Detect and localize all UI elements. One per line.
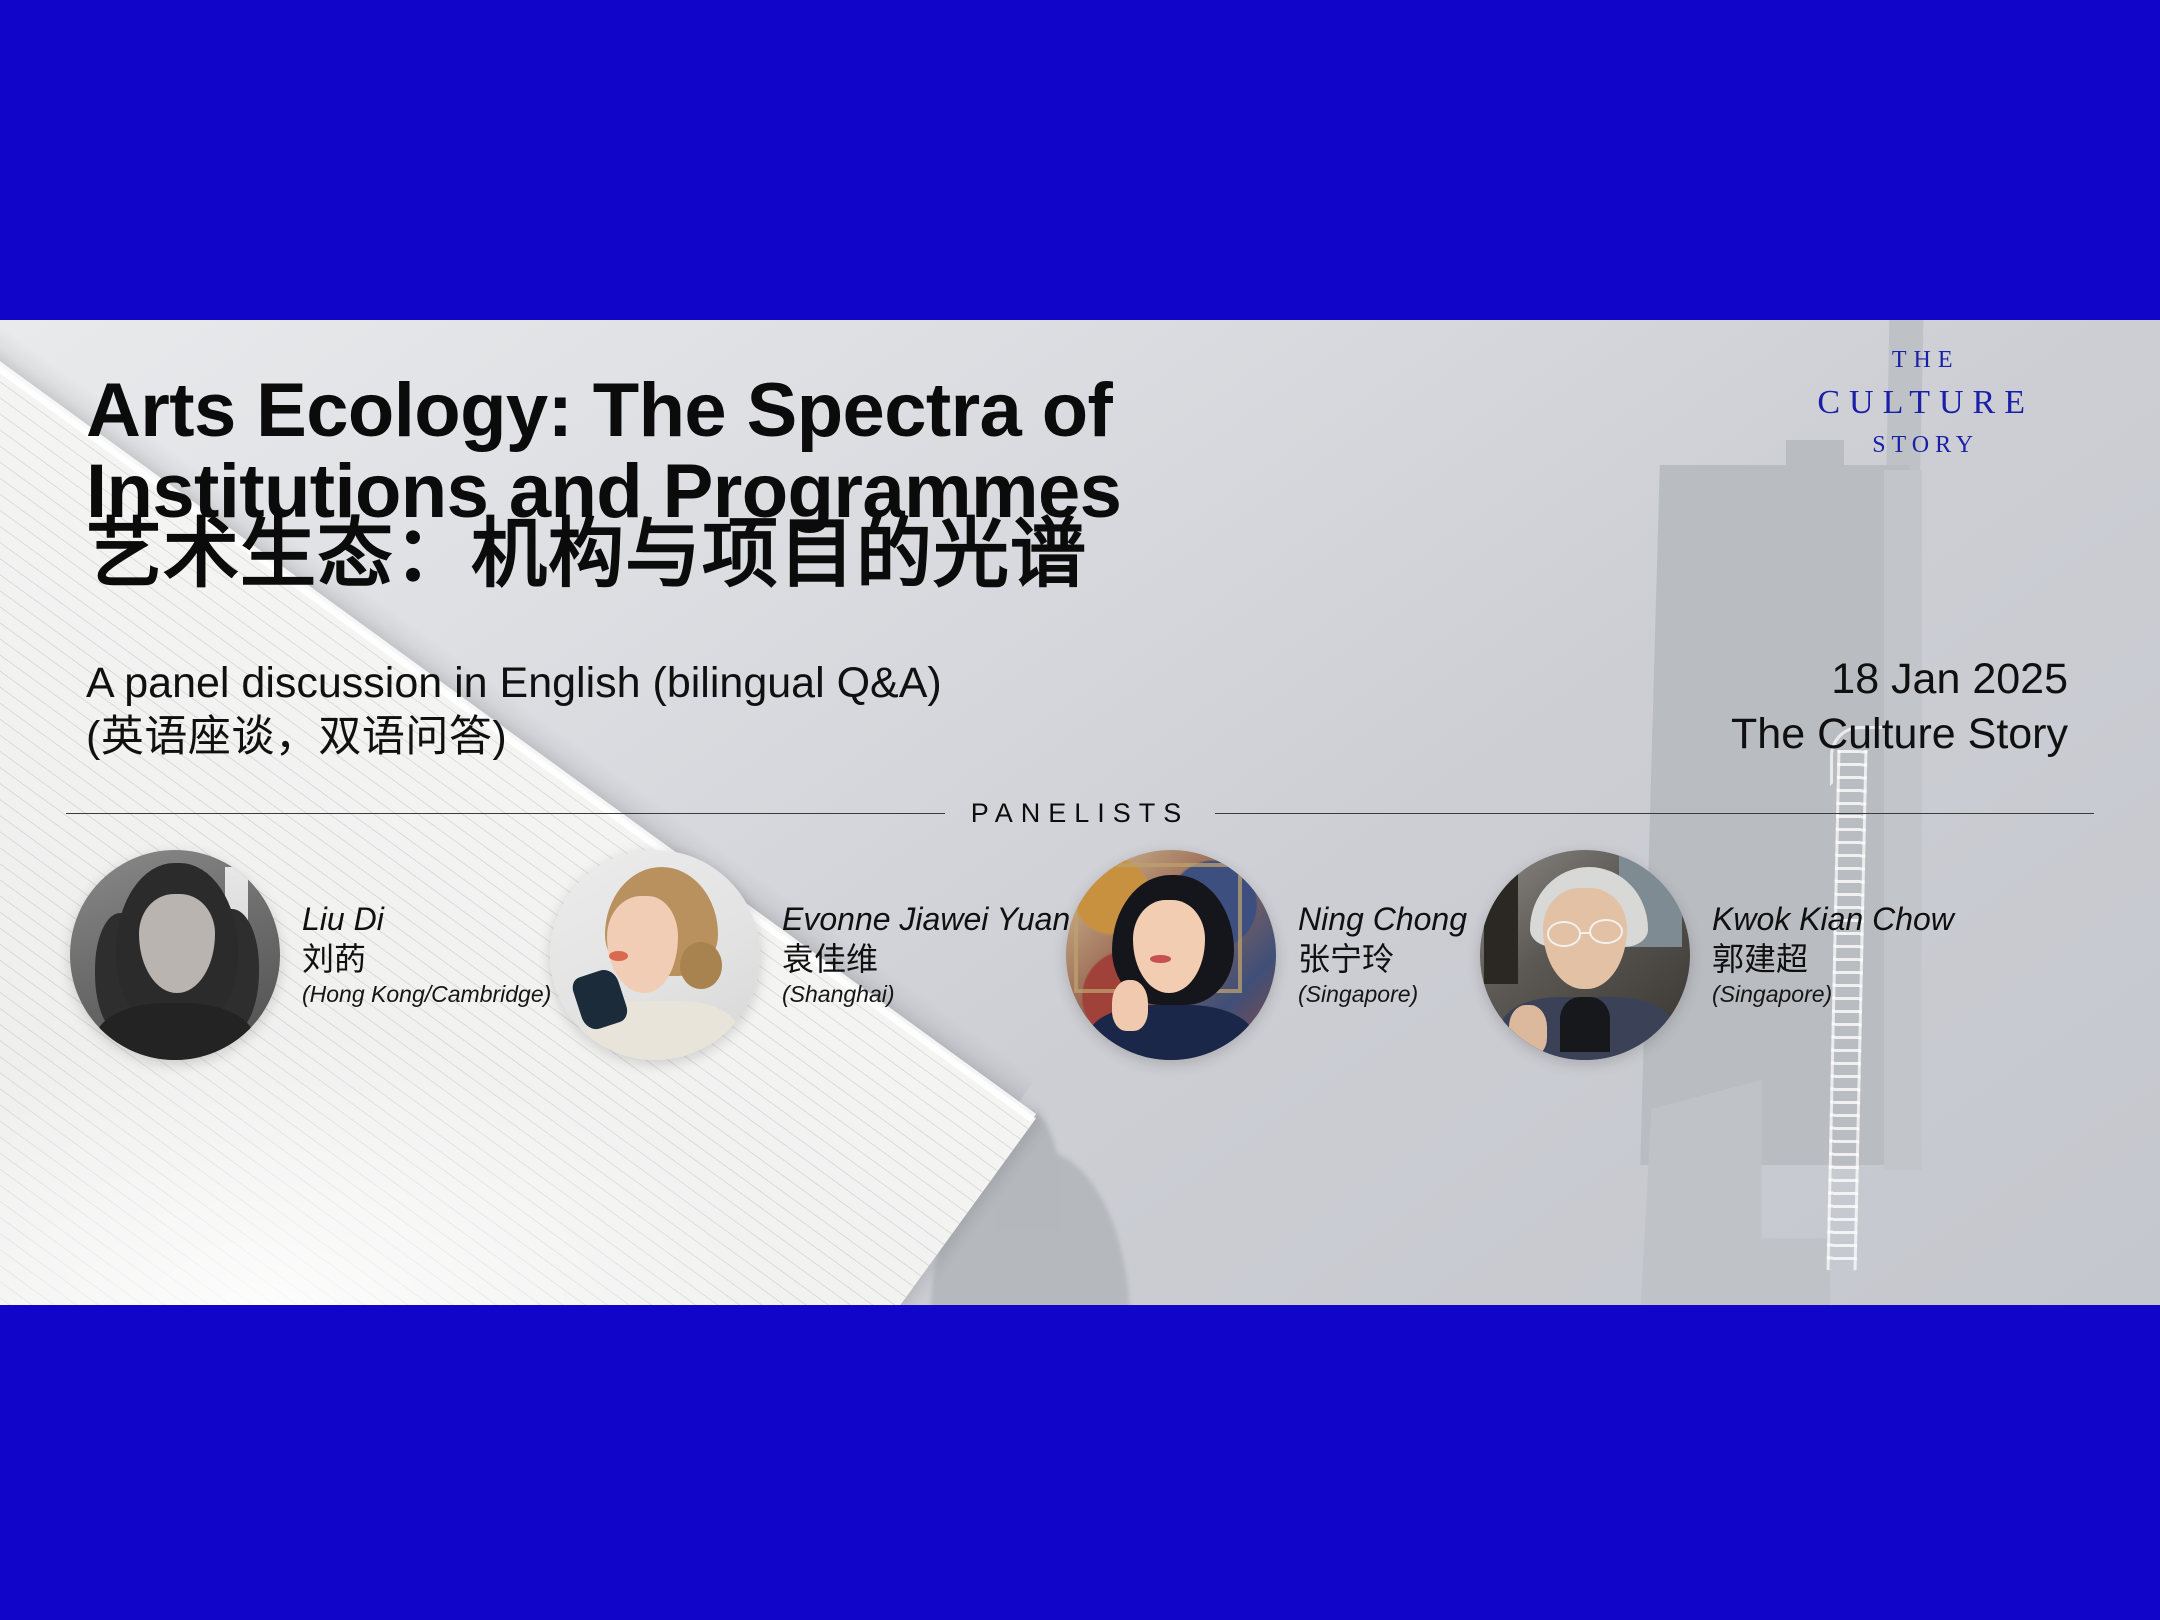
event-venue: The Culture Story: [1731, 707, 2068, 762]
avatar: [70, 850, 280, 1060]
divider-rule-left: [66, 813, 945, 814]
panelist-name: Kwok Kian Chow: [1712, 900, 1954, 939]
panelist-info: Ning Chong 张宁玲 (Singapore): [1298, 900, 1467, 1010]
event-subtitle: A panel discussion in English (bilingual…: [86, 656, 942, 764]
logo-line-culture: CULTURE: [1817, 378, 2034, 427]
panelist-card: Kwok Kian Chow 郭建超 (Singapore): [1480, 850, 1950, 1060]
event-poster: THE CULTURE STORY Arts Ecology: The Spec…: [0, 0, 2160, 1620]
subtitle-english: A panel discussion in English (bilingual…: [86, 656, 942, 710]
panelist-location: (Singapore): [1712, 980, 1954, 1010]
panelists-divider: PANELISTS: [66, 798, 2094, 829]
banner-content: THE CULTURE STORY Arts Ecology: The Spec…: [0, 320, 2160, 1305]
avatar: [550, 850, 760, 1060]
panelist-card: Liu Di 刘菂 (Hong Kong/Cambridge): [70, 850, 560, 1060]
divider-rule-right: [1215, 813, 2094, 814]
panelist-name-chinese: 袁佳维: [782, 939, 1070, 980]
page-title-chinese: 艺术生态：机构与项目的光谱: [86, 512, 1087, 597]
event-meta: 18 Jan 2025 The Culture Story: [1731, 652, 2068, 762]
panelist-card: Ning Chong 张宁玲 (Singapore): [1066, 850, 1506, 1060]
panelist-name: Ning Chong: [1298, 900, 1467, 939]
event-date: 18 Jan 2025: [1731, 652, 2068, 707]
divider-label: PANELISTS: [971, 798, 1190, 829]
panelist-location: (Singapore): [1298, 980, 1467, 1010]
title-line-1: Arts Ecology: The Spectra of: [86, 370, 1506, 451]
page-title: Arts Ecology: The Spectra of Institution…: [86, 370, 1506, 533]
panelist-info: Kwok Kian Chow 郭建超 (Singapore): [1712, 900, 1954, 1010]
logo-line-story: STORY: [1817, 427, 2034, 463]
avatar: [1480, 850, 1690, 1060]
panelist-info: Liu Di 刘菂 (Hong Kong/Cambridge): [302, 900, 551, 1010]
panelists-row: Liu Di 刘菂 (Hong Kong/Cambridge) Evonne J…: [60, 850, 2120, 1060]
panelist-card: Evonne Jiawei Yuan 袁佳维 (Shanghai): [550, 850, 1090, 1060]
logo-line-the: THE: [1817, 342, 2034, 378]
panelist-name-chinese: 郭建超: [1712, 939, 1954, 980]
avatar: [1066, 850, 1276, 1060]
panelist-name: Liu Di: [302, 900, 551, 939]
panelist-info: Evonne Jiawei Yuan 袁佳维 (Shanghai): [782, 900, 1070, 1010]
subtitle-chinese: (英语座谈，双语问答): [86, 710, 942, 764]
panelist-name-chinese: 刘菂: [302, 939, 551, 980]
panelist-name-chinese: 张宁玲: [1298, 939, 1467, 980]
panelist-name: Evonne Jiawei Yuan: [782, 900, 1070, 939]
panelist-location: (Hong Kong/Cambridge): [302, 980, 551, 1010]
the-culture-story-logo: THE CULTURE STORY: [1817, 342, 2034, 463]
banner-photo-area: THE CULTURE STORY Arts Ecology: The Spec…: [0, 320, 2160, 1305]
panelist-location: (Shanghai): [782, 980, 1070, 1010]
